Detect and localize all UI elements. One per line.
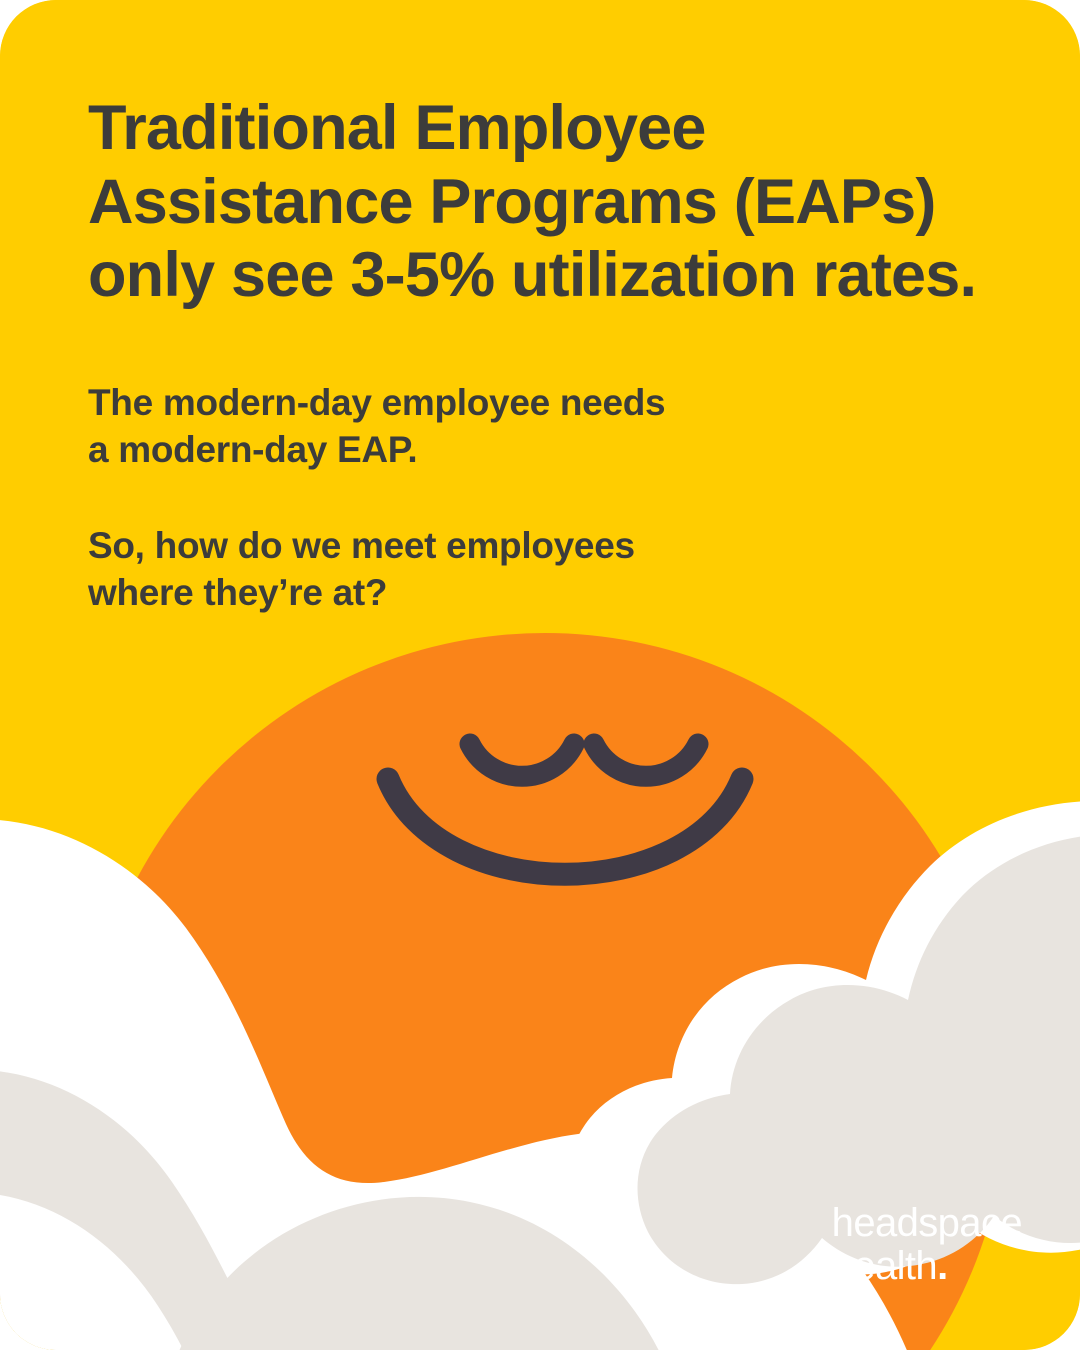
poster-card: Traditional Employee Assistance Programs… xyxy=(0,0,1080,1350)
text-block: Traditional Employee Assistance Programs… xyxy=(88,92,1018,617)
body-paragraph-1: The modern-day employee needs a modern-d… xyxy=(88,379,1018,474)
brand-logo: headspace health. xyxy=(832,1202,1022,1288)
logo-dot: . xyxy=(937,1244,948,1288)
logo-line-health: health. xyxy=(832,1245,1022,1288)
body-paragraph-2: So, how do we meet employees where they’… xyxy=(88,522,1018,617)
logo-line-headspace: headspace xyxy=(832,1201,1022,1245)
logo-word-health: health xyxy=(832,1244,937,1288)
page-title: Traditional Employee Assistance Programs… xyxy=(88,92,1018,313)
